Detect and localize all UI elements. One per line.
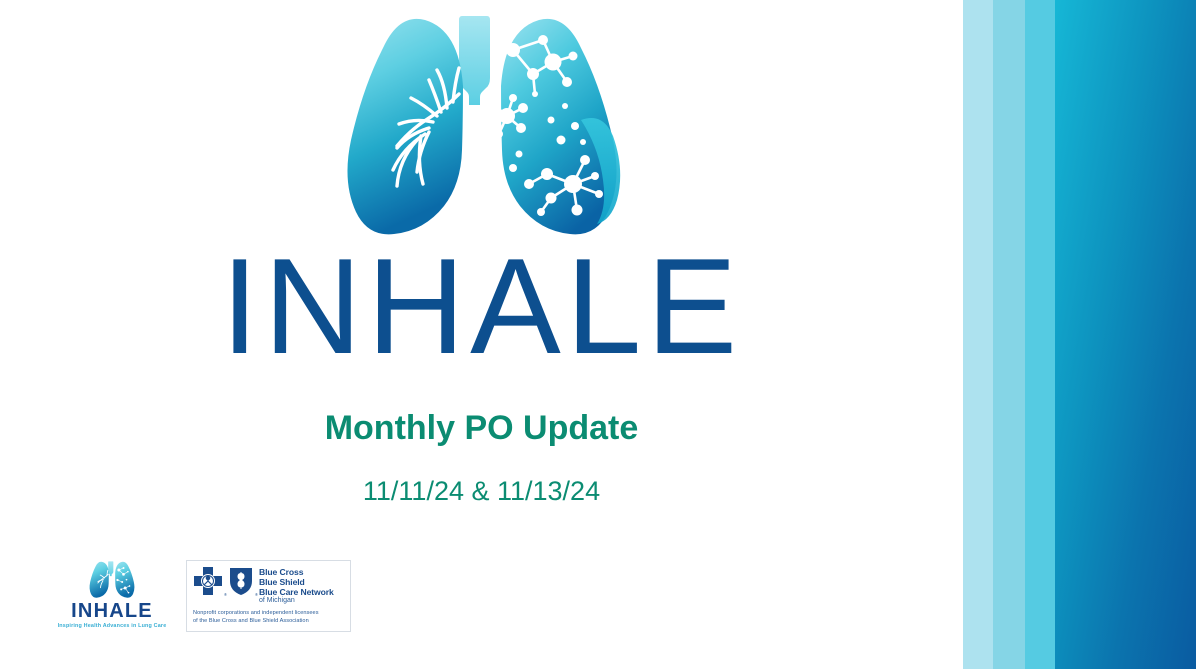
lungs-logo <box>337 8 627 248</box>
bcbs-disclaimer: Nonprofit corporations and independent l… <box>193 610 344 625</box>
bcbs-shield-icon <box>228 566 254 596</box>
bcbs-logo: ® ® Blue Cross Blue Shield Blue Car <box>186 560 351 632</box>
bcbs-line-blue-care-network: Blue Care Network <box>259 587 334 597</box>
bcbs-logo-top: ® ® Blue Cross Blue Shield Blue Car <box>193 566 344 605</box>
dateline: 11/11/24 & 11/13/24 <box>0 475 963 507</box>
bcbs-cross-mark: ® <box>193 566 223 596</box>
left-lung-lobe <box>347 19 463 234</box>
bcbs-wordmark: Blue Cross Blue Shield Blue Care Network… <box>259 566 334 605</box>
page-title: INHALE <box>0 238 963 374</box>
bcbs-line-of-michigan: of Michigan <box>259 597 334 605</box>
inhale-footer-logo: INHALE Inspiring Health Advances in Lung… <box>62 560 162 629</box>
inhale-footer-tagline: Inspiring Health Advances in Lung Care <box>58 623 167 629</box>
hero-content: INHALE Monthly PO Update 11/11/24 & 11/1… <box>0 0 963 669</box>
bcbs-line-blue-shield: Blue Shield <box>259 577 334 587</box>
stripe-band-cyan <box>1025 0 1055 669</box>
footer-logos: INHALE Inspiring Health Advances in Lung… <box>62 560 351 632</box>
trachea-shape <box>459 16 490 105</box>
decorative-stripes <box>963 0 1196 669</box>
bcbs-shield-registered-mark: ® <box>255 593 258 597</box>
title-slide: INHALE Monthly PO Update 11/11/24 & 11/1… <box>0 0 1196 669</box>
bcbs-disclaimer-line-1: Nonprofit corporations and independent l… <box>193 610 344 618</box>
lungs-logo-small-icon <box>86 560 138 600</box>
inhale-footer-wordmark: INHALE <box>71 601 153 621</box>
bcbs-shield-mark: ® <box>228 566 254 596</box>
bcbs-line-blue-cross: Blue Cross <box>259 567 334 577</box>
subtitle: Monthly PO Update <box>0 408 963 449</box>
stripe-band-medium <box>993 0 1025 669</box>
stripe-band-light <box>963 0 993 669</box>
stripe-band-gradient <box>1055 0 1196 669</box>
bcbs-disclaimer-line-2: of the Blue Cross and Blue Shield Associ… <box>193 618 344 626</box>
bcbs-cross-icon <box>193 566 223 596</box>
bcbs-cross-registered-mark: ® <box>224 593 227 597</box>
